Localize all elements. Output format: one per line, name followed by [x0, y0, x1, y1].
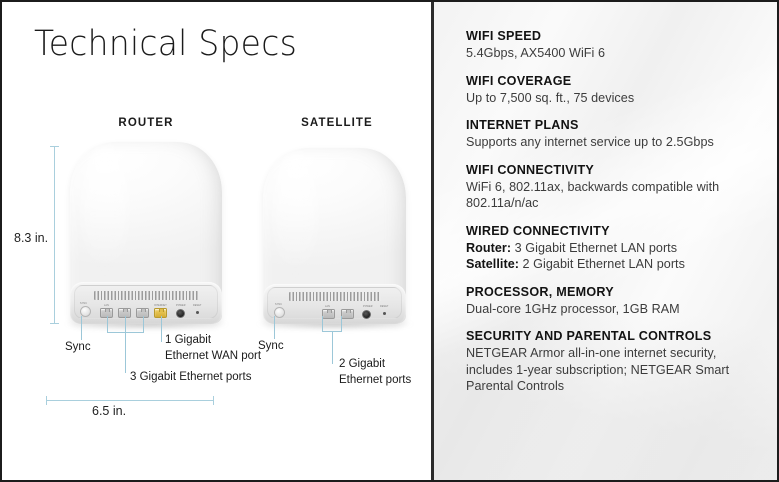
satellite-lan-leader-1: [322, 316, 323, 331]
router-sync-callout: Sync: [65, 340, 91, 355]
satellite-lan-callout-line2: Ethernet ports: [339, 373, 411, 388]
width-dimension-tick-right: [213, 396, 214, 405]
spec-value-router: Router: 3 Gigabit Ethernet LAN ports: [466, 240, 761, 257]
spec-value-satellite-strong: Satellite:: [466, 257, 519, 271]
spec-internet-plans: INTERNET PLANS Supports any internet ser…: [466, 117, 761, 151]
satellite-lan-callout-line1: 2 Gigabit: [339, 357, 385, 372]
spec-value: Dual-core 1GHz processor, 1GB RAM: [466, 301, 761, 318]
spec-label: WIFI COVERAGE: [466, 73, 761, 90]
router-lan-leader-3: [143, 316, 144, 332]
device-router: SYNC LAN INTERNET POWER RESET: [70, 142, 222, 324]
satellite-power-jack: [362, 310, 371, 319]
router-vents: [94, 291, 198, 300]
spec-wired-connectivity: WIRED CONNECTIVITY Router: 3 Gigabit Eth…: [466, 223, 761, 273]
router-wan-callout-line2: Ethernet WAN port: [165, 349, 261, 364]
router-lan-leader-2: [125, 316, 126, 332]
satellite-sync-button[interactable]: [274, 307, 285, 318]
spec-security-parental-controls: SECURITY AND PARENTAL CONTROLS NETGEAR A…: [466, 328, 761, 395]
router-wan-callout-line1: 1 Gigabit: [165, 333, 211, 348]
spec-wifi-coverage: WIFI COVERAGE Up to 7,500 sq. ft., 75 de…: [466, 73, 761, 107]
satellite-reset-pinhole: [383, 312, 386, 315]
satellite-lan-port-1: [322, 309, 335, 319]
spec-value: NETGEAR Armor all-in-one internet securi…: [466, 345, 761, 395]
satellite-vents: [289, 292, 381, 301]
satellite-lan-leader-2: [341, 316, 342, 331]
height-dimension-tick-bottom: [50, 323, 59, 324]
height-dimension-tick-top: [50, 146, 59, 147]
router-power-jack: [176, 309, 185, 318]
spec-value: 5.4Gbps, AX5400 WiFi 6: [466, 45, 761, 62]
spec-label: SECURITY AND PARENTAL CONTROLS: [466, 328, 761, 345]
spec-label: PROCESSOR, MEMORY: [466, 284, 761, 301]
spec-label: WIFI SPEED: [466, 28, 761, 45]
width-dimension-line: [46, 400, 214, 401]
spec-label: INTERNET PLANS: [466, 117, 761, 134]
satellite-rear-panel: SYNC LAN POWER RESET: [263, 284, 406, 324]
spec-value: WiFi 6, 802.11ax, backwards compatible w…: [466, 179, 761, 212]
technical-specs-page: Technical Specs ROUTER SATELLITE SYNC LA…: [0, 0, 779, 482]
router-sync-microlabel: SYNC: [80, 302, 87, 305]
spec-processor-memory: PROCESSOR, MEMORY Dual-core 1GHz process…: [466, 284, 761, 318]
router-wan-leader: [161, 316, 162, 342]
satellite-lan-port-2: [341, 309, 354, 319]
spec-value: Up to 7,500 sq. ft., 75 devices: [466, 90, 761, 107]
spec-value-router-strong: Router:: [466, 241, 511, 255]
router-power-microlabel: POWER: [176, 304, 186, 307]
width-dimension-tick-left: [46, 396, 47, 405]
device-caption-satellite: SATELLITE: [277, 117, 397, 129]
router-lan-leader-1: [107, 316, 108, 332]
diagram-panel: Technical Specs ROUTER SATELLITE SYNC LA…: [2, 2, 430, 480]
specs-panel: WIFI SPEED 5.4Gbps, AX5400 WiFi 6 WIFI C…: [434, 2, 777, 480]
spec-label: WIRED CONNECTIVITY: [466, 223, 761, 240]
device-satellite: SYNC LAN POWER RESET: [263, 148, 406, 324]
router-rear-panel: SYNC LAN INTERNET POWER RESET: [70, 282, 222, 324]
satellite-lan-drop: [332, 331, 333, 364]
satellite-sync-callout: Sync: [258, 339, 284, 354]
spec-value-satellite: Satellite: 2 Gigabit Ethernet LAN ports: [466, 256, 761, 273]
spec-label: WIFI CONNECTIVITY: [466, 162, 761, 179]
page-title: Technical Specs: [34, 24, 297, 64]
router-lan-callout: 3 Gigabit Ethernet ports: [130, 370, 251, 385]
spec-value-satellite-rest: 2 Gigabit Ethernet LAN ports: [519, 257, 685, 271]
satellite-sync-microlabel: SYNC: [275, 303, 282, 306]
satellite-reset-microlabel: RESET: [380, 305, 388, 308]
router-reset-microlabel: RESET: [193, 304, 201, 307]
width-dimension-label: 6.5 in.: [92, 404, 126, 418]
device-caption-router: ROUTER: [86, 117, 206, 129]
satellite-sync-leader: [274, 316, 275, 339]
router-reset-pinhole: [196, 311, 199, 314]
router-sync-leader: [81, 316, 82, 340]
router-lan-drop: [125, 332, 126, 373]
height-dimension-line: [54, 146, 55, 323]
spec-wifi-connectivity: WIFI CONNECTIVITY WiFi 6, 802.11ax, back…: [466, 162, 761, 212]
height-dimension-label: 8.3 in.: [14, 231, 48, 245]
spec-wifi-speed: WIFI SPEED 5.4Gbps, AX5400 WiFi 6: [466, 28, 761, 62]
spec-value-router-rest: 3 Gigabit Ethernet LAN ports: [511, 241, 677, 255]
satellite-power-microlabel: POWER: [363, 305, 373, 308]
spec-value: Supports any internet service up to 2.5G…: [466, 134, 761, 151]
